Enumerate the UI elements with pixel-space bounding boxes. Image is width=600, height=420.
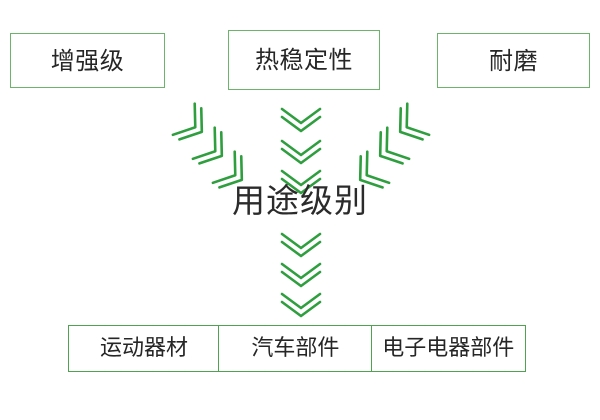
top-box-wear-resistant[interactable]: 耐磨 (437, 33, 590, 88)
diagram-canvas: 增强级 热稳定性 耐磨 (0, 0, 600, 420)
chevron-icon-center-upper-1 (279, 106, 323, 132)
bottom-box-electronic-appliance-parts[interactable]: 电子电器部件 (371, 325, 526, 372)
chevron-icon-center-lower-3 (279, 291, 323, 317)
top-box-label: 增强级 (51, 49, 125, 73)
bottom-box-label: 汽车部件 (251, 338, 339, 360)
bottom-box-automotive-parts[interactable]: 汽车部件 (218, 325, 372, 372)
top-box-label: 耐磨 (489, 49, 538, 73)
top-box-thermal-stability[interactable]: 热稳定性 (228, 30, 380, 90)
top-box-label: 热稳定性 (255, 48, 353, 72)
bottom-box-row: 运动器材 汽车部件 电子电器部件 (68, 325, 527, 372)
bottom-box-label: 运动器材 (100, 338, 188, 360)
chevron-icon-center-lower-2 (279, 261, 323, 287)
bottom-box-sports-equipment[interactable]: 运动器材 (68, 325, 220, 372)
bottom-box-label: 电子电器部件 (382, 338, 514, 360)
center-node-label: 用途级别 (0, 183, 600, 219)
chevron-icon-center-lower-1 (279, 231, 323, 257)
chevron-icon-center-upper-2 (279, 138, 323, 164)
top-box-reinforced-grade[interactable]: 增强级 (10, 33, 165, 88)
